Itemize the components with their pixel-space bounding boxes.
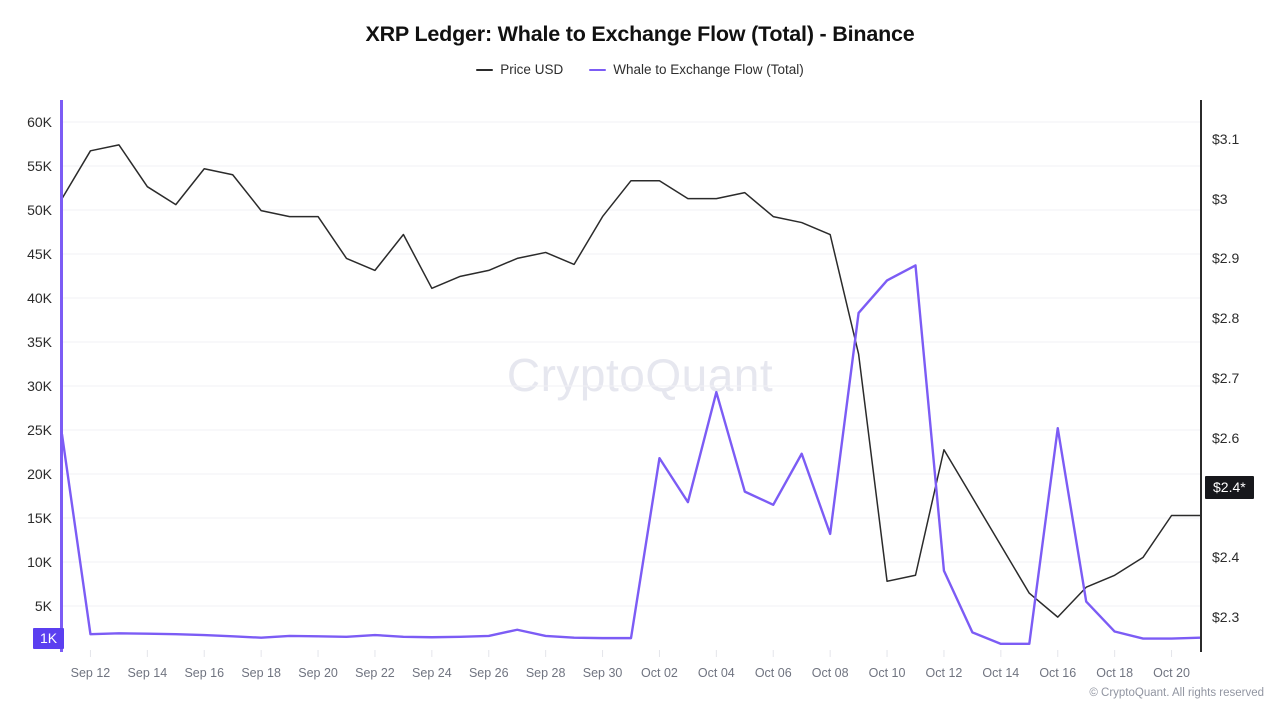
- y-axis-left-tick: 25K: [27, 422, 52, 438]
- legend-item-whale-flow[interactable]: Whale to Exchange Flow (Total): [589, 62, 804, 77]
- y-axis-left-tick: 5K: [35, 598, 52, 614]
- plot-area: [62, 100, 1200, 650]
- x-axis-tick: Sep 12: [71, 666, 111, 680]
- x-axis-tick: Oct 12: [926, 666, 963, 680]
- legend-swatch-whale-flow: [589, 69, 606, 71]
- x-axis-tick: Oct 14: [982, 666, 1019, 680]
- current-price-badge: $2.4*: [1205, 476, 1254, 499]
- x-axis-tick: Sep 28: [526, 666, 566, 680]
- x-axis-tick: Sep 30: [583, 666, 623, 680]
- y-axis-left-spine: [60, 100, 63, 652]
- chart-title: XRP Ledger: Whale to Exchange Flow (Tota…: [0, 22, 1280, 47]
- y-axis-left-labels: 60K55K50K45K40K35K30K25K20K15K10K5K: [0, 0, 52, 720]
- x-axis-tick: Oct 16: [1039, 666, 1076, 680]
- chart-legend: Price USD Whale to Exchange Flow (Total): [0, 62, 1280, 77]
- y-axis-right-tick: $3: [1212, 191, 1228, 207]
- chart-root: XRP Ledger: Whale to Exchange Flow (Tota…: [0, 0, 1280, 720]
- legend-item-price-usd[interactable]: Price USD: [476, 62, 563, 77]
- x-axis-tick: Oct 18: [1096, 666, 1133, 680]
- y-axis-right-spine: [1200, 100, 1202, 652]
- x-axis-tick: Sep 22: [355, 666, 395, 680]
- x-axis-labels: Sep 12Sep 14Sep 16Sep 18Sep 20Sep 22Sep …: [0, 666, 1280, 690]
- x-axis-tick: Sep 14: [128, 666, 168, 680]
- y-axis-left-tick: 60K: [27, 114, 52, 130]
- x-axis-tick: Oct 08: [812, 666, 849, 680]
- y-axis-right-tick: $2.8: [1212, 310, 1239, 326]
- series-lines: [62, 100, 1200, 650]
- legend-label-price-usd: Price USD: [500, 62, 563, 77]
- x-axis-tick: Sep 26: [469, 666, 509, 680]
- y-axis-right-tick: $2.9: [1212, 250, 1239, 266]
- y-axis-left-tick: 45K: [27, 246, 52, 262]
- y-axis-right-tick: $2.3: [1212, 609, 1239, 625]
- y-axis-left-tick: 20K: [27, 466, 52, 482]
- x-axis-tick: Oct 10: [869, 666, 906, 680]
- y-axis-right-tick: $2.6: [1212, 430, 1239, 446]
- y-axis-left-tick: 40K: [27, 290, 52, 306]
- y-axis-left-tick: 35K: [27, 334, 52, 350]
- y-axis-right-tick: $3.1: [1212, 131, 1239, 147]
- legend-swatch-price-usd: [476, 69, 493, 71]
- current-flow-badge: 1K: [33, 628, 64, 649]
- x-axis-tick: Sep 18: [241, 666, 281, 680]
- x-axis-tick: Oct 20: [1153, 666, 1190, 680]
- x-axis-tick: Sep 20: [298, 666, 338, 680]
- y-axis-left-tick: 30K: [27, 378, 52, 394]
- x-axis-tick: Sep 24: [412, 666, 452, 680]
- y-axis-right-tick: $2.4: [1212, 549, 1239, 565]
- x-axis-tick: Oct 06: [755, 666, 792, 680]
- y-axis-left-tick: 55K: [27, 158, 52, 174]
- y-axis-right-labels: $3.1$3$2.9$2.8$2.7$2.6$2.4$2.3: [1212, 0, 1280, 720]
- copyright-footer: © CryptoQuant. All rights reserved: [1089, 687, 1264, 699]
- y-axis-left-tick: 10K: [27, 554, 52, 570]
- legend-label-whale-flow: Whale to Exchange Flow (Total): [613, 62, 804, 77]
- x-axis-tick: Sep 16: [184, 666, 224, 680]
- x-axis-tick: Oct 02: [641, 666, 678, 680]
- y-axis-left-tick: 15K: [27, 510, 52, 526]
- x-axis-tick: Oct 04: [698, 666, 735, 680]
- y-axis-right-tick: $2.7: [1212, 370, 1239, 386]
- y-axis-left-tick: 50K: [27, 202, 52, 218]
